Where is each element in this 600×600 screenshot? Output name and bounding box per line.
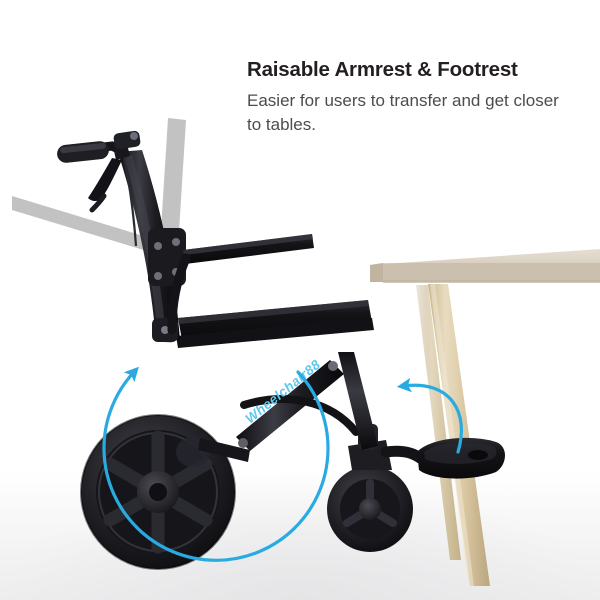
armrest-rotation-arc	[104, 372, 328, 560]
illustration: Wheelchair88	[0, 0, 600, 600]
product-feature-image: Raisable Armrest & Footrest Easier for u…	[0, 0, 600, 600]
footrest-rotation-arc	[404, 385, 461, 452]
motion-arrows-group	[0, 0, 600, 600]
